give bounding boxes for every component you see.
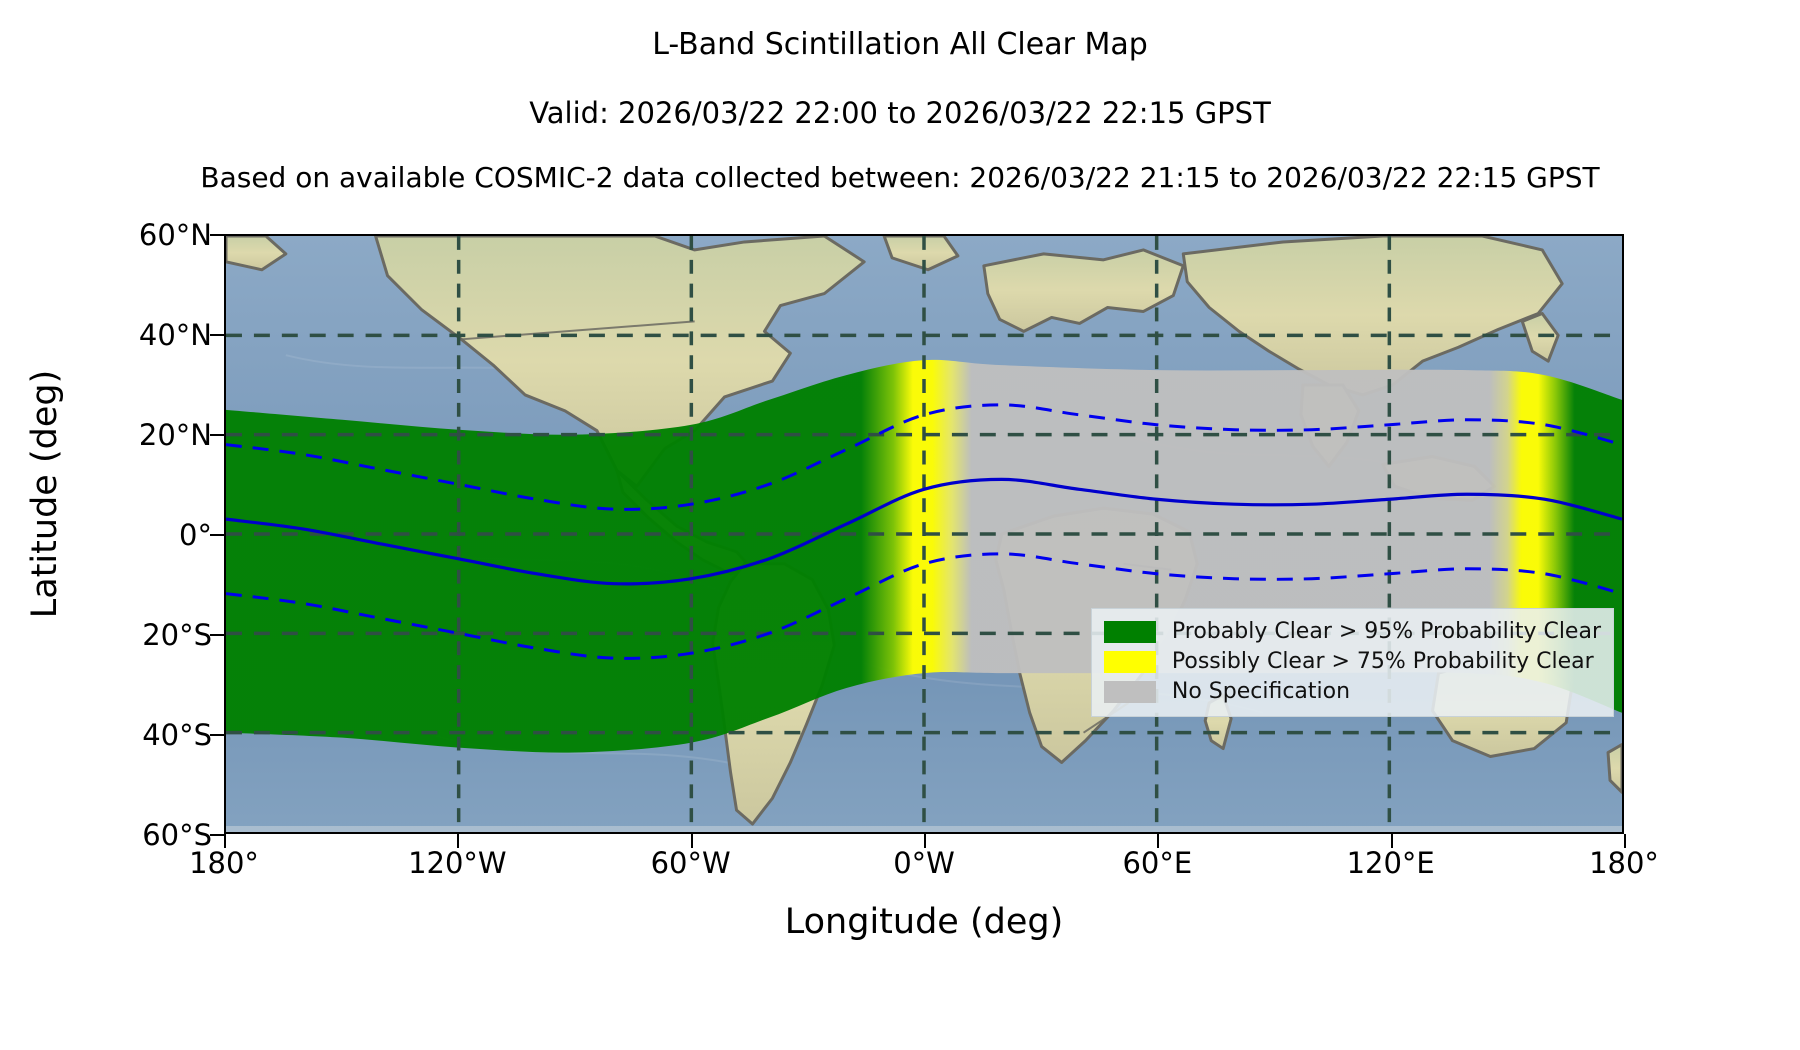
x-tick-label: 120°W [357,846,557,880]
legend-swatch-possibly-clear [1104,651,1156,673]
y-tick-mark [210,634,224,636]
legend-item-possibly-clear: Possibly Clear > 75% Probability Clear [1104,647,1601,677]
legend-item-probably-clear: Probably Clear > 95% Probability Clear [1104,617,1601,647]
x-tick-label: 180° [124,846,324,880]
y-tick-mark [210,734,224,736]
legend-swatch-no-specification [1104,681,1156,703]
y-tick-label: 20°N [12,418,212,452]
header-block: L-Band Scintillation All Clear Map Valid… [0,0,1800,192]
y-tick-label: 40°N [12,318,212,352]
x-tick-label: 120°E [1291,846,1491,880]
y-tick-mark [210,334,224,336]
y-tick-label: 60°N [12,218,212,252]
legend: Probably Clear > 95% Probability ClearPo… [1091,608,1614,717]
legend-label-possibly-clear: Possibly Clear > 75% Probability Clear [1172,651,1594,673]
x-tick-label: 180° [1524,846,1724,880]
legend-swatch-probably-clear [1104,621,1156,643]
curve-north-crest [226,405,1622,510]
x-tick-mark [224,834,226,848]
data-source-line: Based on available COSMIC-2 data collect… [0,164,1800,192]
y-tick-mark [210,534,224,536]
x-tick-label: 0°W [824,846,1024,880]
y-tick-mark [210,834,224,836]
x-axis-label: Longitude (deg) [224,902,1624,942]
x-tick-mark [1391,834,1393,848]
y-tick-label: 20°S [12,618,212,652]
x-tick-mark [924,834,926,848]
x-tick-label: 60°E [1057,846,1257,880]
y-tick-label: 40°S [12,718,212,752]
y-tick-label: 0° [12,518,212,552]
legend-label-probably-clear: Probably Clear > 95% Probability Clear [1172,621,1601,643]
x-tick-mark [691,834,693,848]
curve-magnetic-equator [226,479,1622,584]
valid-period-line: Valid: 2026/03/22 22:00 to 2026/03/22 22… [0,99,1800,128]
legend-label-no-specification: No Specification [1172,681,1350,703]
y-tick-mark [210,234,224,236]
x-tick-label: 60°W [591,846,791,880]
legend-item-no-specification: No Specification [1104,677,1601,707]
x-tick-mark [1157,834,1159,848]
map-plot-area[interactable]: Map valid for 1500 MHz Probably Clear > … [224,234,1624,834]
y-tick-mark [210,434,224,436]
ionosphere-curves-layer [226,236,1622,832]
x-tick-mark [1624,834,1626,848]
page-title: L-Band Scintillation All Clear Map [0,30,1800,60]
x-tick-mark [457,834,459,848]
